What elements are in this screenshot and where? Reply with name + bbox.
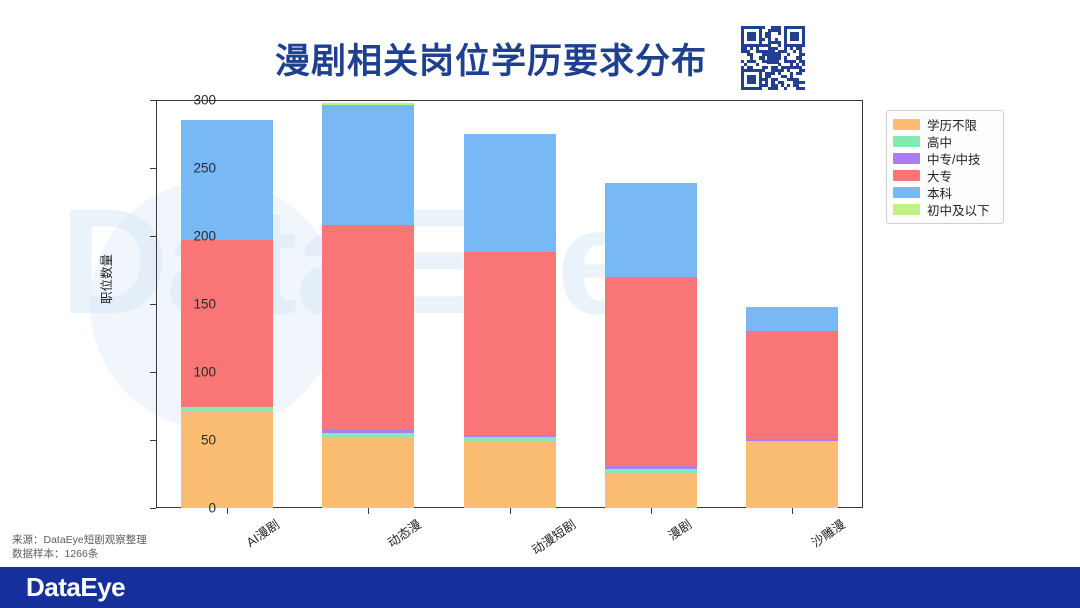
legend-item-高中[interactable]: 高中 [893, 133, 997, 150]
y-axis-tick-mark [150, 100, 156, 101]
source-note: 来源：DataEye短剧观察整理 数据样本：1266条 [12, 533, 147, 561]
legend-swatch-icon [893, 119, 920, 130]
bar-segment-大专[interactable] [746, 331, 838, 438]
y-axis-tick: 200 [193, 229, 216, 244]
y-axis-tick-mark [150, 440, 156, 441]
x-axis-tick-mark [651, 508, 652, 514]
qr-code-icon [741, 26, 805, 90]
bar-segment-中专/中技[interactable] [746, 439, 838, 442]
bar-segment-本科[interactable] [605, 183, 697, 277]
x-axis-tick-label: 沙雕漫 [807, 514, 849, 551]
y-axis-tick-mark [150, 372, 156, 373]
bar-segment-中专/中技[interactable] [322, 430, 414, 433]
legend-swatch-icon [893, 187, 920, 198]
legend-item-中专/中技[interactable]: 中专/中技 [893, 150, 997, 167]
x-axis-tick-label: 动态漫 [383, 514, 425, 551]
y-axis-tick: 100 [193, 365, 216, 380]
legend-swatch-icon [893, 170, 920, 181]
page-title: 漫剧相关岗位学历要求分布 [275, 33, 707, 84]
x-axis-tick-label: AI漫剧 [241, 514, 282, 551]
bar-segment-本科[interactable] [322, 105, 414, 225]
title-row: 漫剧相关岗位学历要求分布 [0, 26, 1080, 90]
legend-item-初中及以下[interactable]: 初中及以下 [893, 201, 997, 218]
y-axis-tick-mark [150, 236, 156, 237]
bar-segment-学历不限[interactable] [605, 473, 697, 508]
x-axis-tick-label: 漫剧 [663, 514, 694, 544]
bar-group [156, 100, 863, 508]
bar-segment-本科[interactable] [464, 134, 556, 252]
bar-segment-学历不限[interactable] [746, 441, 838, 508]
bar-segment-大专[interactable] [605, 277, 697, 466]
y-axis-tick-mark [150, 304, 156, 305]
y-axis-tick: 150 [193, 297, 216, 312]
legend-item-大专[interactable]: 大专 [893, 167, 997, 184]
legend-swatch-icon [893, 136, 920, 147]
bar-segment-学历不限[interactable] [322, 437, 414, 508]
legend-item-学历不限[interactable]: 学历不限 [893, 116, 997, 133]
source-line-2: 数据样本：1266条 [12, 547, 147, 561]
footer-bar: DataEye [0, 567, 1080, 608]
y-axis-label: 职位数量 [96, 254, 115, 304]
bar-segment-高中[interactable] [181, 407, 273, 411]
legend-item-本科[interactable]: 本科 [893, 184, 997, 201]
chart-legend: 学历不限高中中专/中技大专本科初中及以下 [886, 110, 1004, 224]
x-axis-tick-mark [227, 508, 228, 514]
bar-segment-初中及以下[interactable] [322, 103, 414, 106]
x-axis-tick-mark [510, 508, 511, 514]
x-axis-tick-label: 动漫短剧 [527, 514, 579, 558]
y-axis-tick: 50 [201, 433, 216, 448]
y-axis-tick-mark [150, 508, 156, 509]
source-line-1: 来源：DataEye短剧观察整理 [12, 533, 147, 547]
legend-swatch-icon [893, 153, 920, 164]
legend-swatch-icon [893, 204, 920, 215]
bar-segment-高中[interactable] [605, 469, 697, 473]
y-axis-tick: 250 [193, 161, 216, 176]
bar-segment-大专[interactable] [181, 240, 273, 407]
x-axis-tick-mark [792, 508, 793, 514]
legend-label: 初中及以下 [927, 200, 990, 219]
bar-segment-学历不限[interactable] [181, 411, 273, 508]
bar-segment-大专[interactable] [322, 225, 414, 430]
bar-segment-学历不限[interactable] [464, 441, 556, 508]
bar-segment-本科[interactable] [746, 307, 838, 331]
bar-segment-大专[interactable] [464, 252, 556, 434]
y-axis-tick-mark [150, 168, 156, 169]
bar-segment-中专/中技[interactable] [605, 466, 697, 469]
x-axis-tick-mark [368, 508, 369, 514]
bar-segment-本科[interactable] [181, 120, 273, 240]
brand-logo: DataEye [26, 572, 125, 603]
bar-segment-高中[interactable] [464, 437, 556, 441]
bar-segment-中专/中技[interactable] [464, 435, 556, 438]
bar-segment-高中[interactable] [322, 433, 414, 437]
y-axis-tick: 300 [193, 93, 216, 108]
y-axis-tick: 0 [208, 501, 216, 516]
